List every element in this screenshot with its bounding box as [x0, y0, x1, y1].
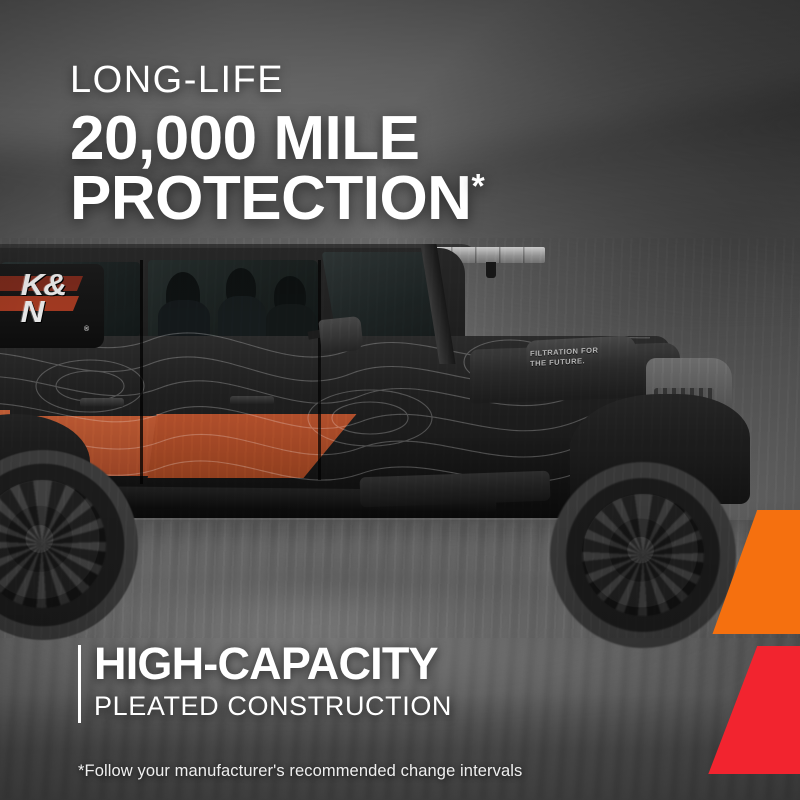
subhead-subtitle: PLEATED CONSTRUCTION — [94, 690, 654, 722]
headline-asterisk: * — [471, 167, 484, 205]
subhead-title: HIGH-CAPACITY — [94, 640, 654, 688]
footnote-disclaimer: *Follow your manufacturer's recommended … — [78, 762, 522, 781]
subhead-divider-rule — [78, 645, 81, 723]
headline-eyebrow: LONG-LIFE — [70, 58, 710, 102]
headline-block: LONG-LIFE 20,000 MILE PROTECTION* — [70, 58, 710, 228]
subhead-block: HIGH-CAPACITY PLEATED CONSTRUCTION — [72, 640, 654, 722]
headline-line-1: 20,000 MILE — [70, 110, 710, 168]
headline-line-2-text: PROTECTION — [70, 164, 471, 233]
headline-line-2: PROTECTION* — [70, 170, 710, 228]
ad-canvas: FILTRATION FOR THE FUTURE. K& N ® LONG — [0, 0, 800, 800]
